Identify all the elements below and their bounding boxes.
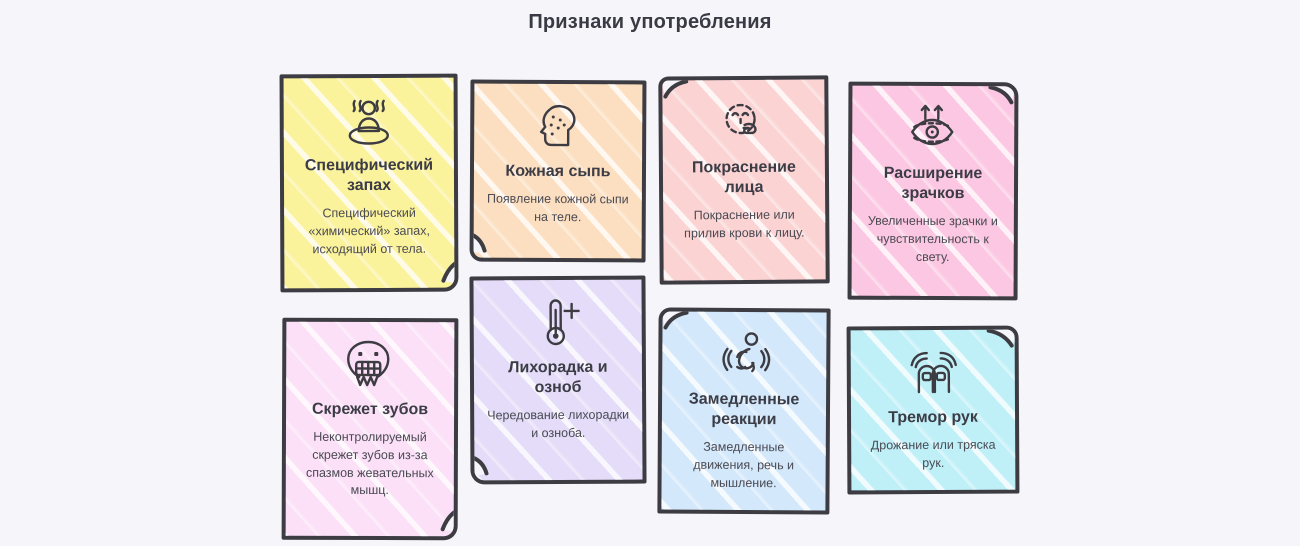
card-title: Скрежет зубов [312, 400, 428, 421]
smell-body-odor-icon [340, 92, 398, 150]
corner-curl [430, 507, 456, 538]
trembling-hands-icon [904, 344, 962, 402]
flushed-face-icon [714, 94, 772, 152]
card-description: Покраснение или прилив крови к лицу. [676, 207, 812, 243]
card-description: Дрожание или тряска рук. [864, 437, 1002, 473]
face-with-rash-spots-icon [529, 98, 587, 156]
corner-curl [472, 451, 500, 482]
grinding-teeth-face-icon [341, 336, 399, 394]
symptom-card-rash[interactable]: Кожная сыпь Появление кожной сыпи на тел… [470, 80, 647, 263]
symptom-card-board: Специфический запах Специфический «химич… [0, 0, 1300, 546]
card-title: Лихорадка и озноб [487, 358, 629, 399]
card-description: Неконтролируемый скрежет зубов из-за спа… [299, 429, 441, 500]
corner-curl [430, 259, 456, 290]
thermometer-plus-icon [529, 294, 587, 352]
symptom-card-teeth[interactable]: Скрежет зубов Неконтролируемый скрежет з… [282, 318, 459, 541]
symptom-card-flush[interactable]: Покраснение лица Покраснение или прилив … [658, 75, 829, 284]
card-title: Кожная сыпь [505, 162, 610, 183]
symptom-card-slow[interactable]: Замедленные реакции Замедленные движения… [657, 307, 830, 514]
card-description: Появление кожной сыпи на теле. [487, 191, 629, 227]
card-title: Специфический запах [297, 156, 441, 197]
dilated-pupil-eye-up-arrows-icon [904, 100, 962, 158]
symptom-card-pupils[interactable]: Расширение зрачков Увеличенные зрачки и … [848, 82, 1019, 301]
symptom-card-tremor[interactable]: Тремор рук Дрожание или тряска рук. [847, 326, 1020, 495]
card-description: Замедленные движения, речь и мышление. [675, 439, 813, 493]
card-title: Замедленные реакции [675, 390, 813, 431]
slow-moving-person-icon [715, 326, 773, 384]
card-title: Покраснение лица [676, 158, 812, 199]
symptom-card-fever[interactable]: Лихорадка и озноб Чередование лихорадки … [469, 276, 646, 485]
card-title: Расширение зрачков [865, 164, 1001, 205]
card-description: Увеличенные зрачки и чувствительность к … [865, 213, 1001, 267]
card-description: Специфический «химический» запах, исходя… [297, 205, 441, 259]
corner-curl [472, 229, 498, 260]
card-title: Тремор рук [888, 408, 978, 429]
symptom-card-odor[interactable]: Специфический запах Специфический «химич… [280, 74, 459, 293]
card-description: Чередование лихорадки и озноба. [487, 407, 629, 443]
